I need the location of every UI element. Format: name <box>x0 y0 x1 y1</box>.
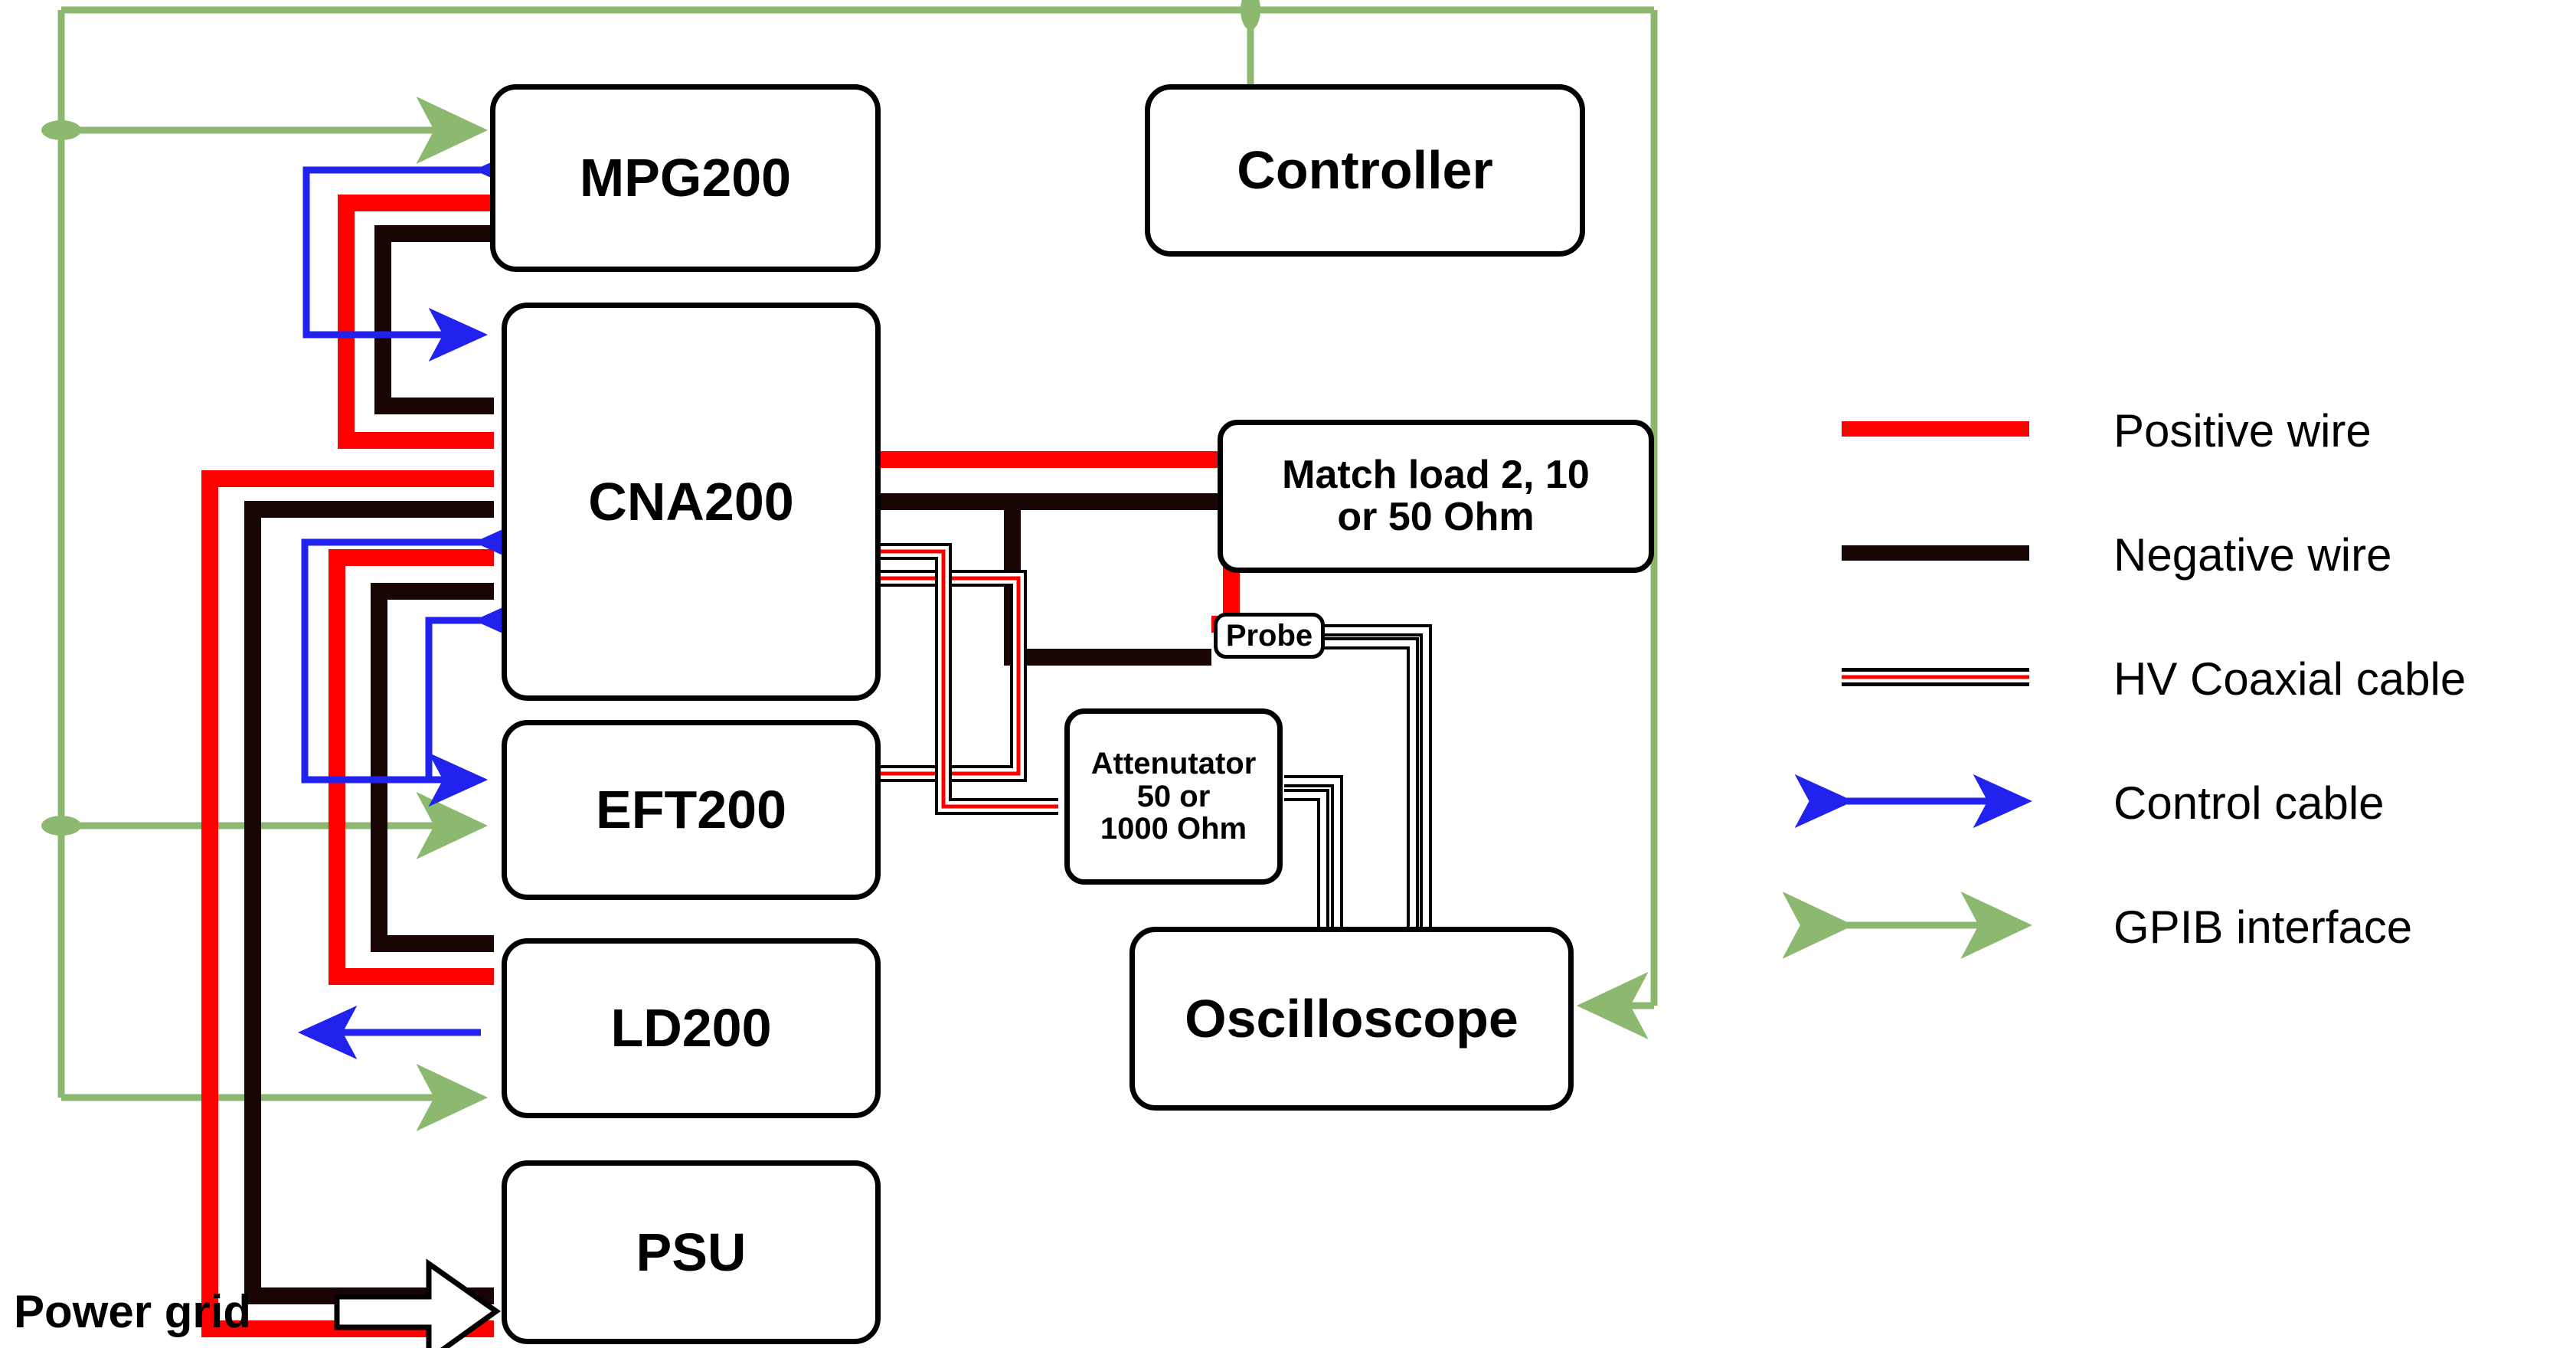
legend-label-gpib-interface: GPIB interface <box>2113 901 2412 954</box>
legend-label-hv-coaxial-cable: HV Coaxial cable <box>2113 653 2466 705</box>
legend-label-control-cable: Control cable <box>2113 777 2385 829</box>
negative-branch-probe <box>1012 502 1211 657</box>
control-cna200-eft200-b <box>429 620 481 780</box>
node-attenuator[interactable]: Attenutator 50 or 1000 Ohm <box>1064 708 1283 885</box>
legend-label-negative-wire: Negative wire <box>2113 528 2392 581</box>
scope-signal-cables <box>1284 630 1426 931</box>
node-oscilloscope[interactable]: Oscilloscope <box>1129 927 1574 1111</box>
power-grid-label: Power grid <box>14 1285 251 1338</box>
node-cna200[interactable]: CNA200 <box>502 303 881 701</box>
node-ld200[interactable]: LD200 <box>502 938 881 1118</box>
node-match-load[interactable]: Match load 2, 10 or 50 Ohm <box>1218 420 1654 573</box>
node-mpg200[interactable]: MPG200 <box>490 84 881 272</box>
legend-glyphs <box>1842 429 2029 925</box>
diagram-canvas: MPG200 Controller CNA200 Match load 2, 1… <box>0 0 2576 1348</box>
node-psu[interactable]: PSU <box>502 1160 881 1344</box>
negative-mpg200-cna200 <box>383 234 494 406</box>
node-eft200[interactable]: EFT200 <box>502 720 881 900</box>
legend-label-positive-wire: Positive wire <box>2113 404 2372 457</box>
negative-cna200-ld200 <box>379 591 494 944</box>
node-probe[interactable]: Probe <box>1214 613 1325 659</box>
node-controller[interactable]: Controller <box>1145 84 1585 257</box>
